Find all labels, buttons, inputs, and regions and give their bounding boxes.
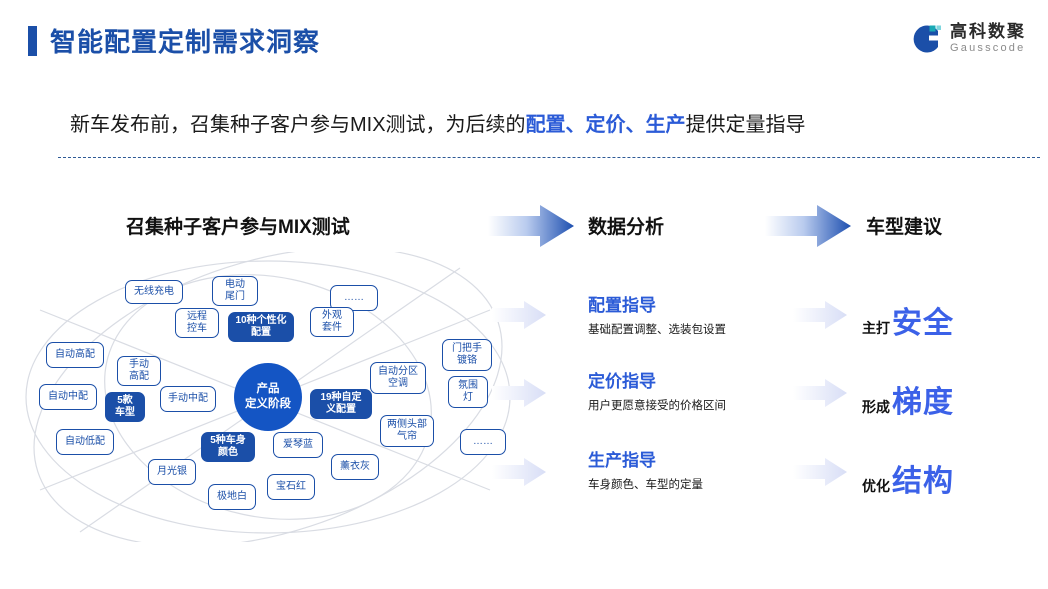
- advice-item-safety: 主打 安全: [862, 298, 954, 342]
- row-arrow-right-2-icon: [793, 378, 847, 408]
- column-header-collect: 召集种子客户参与MIX测试: [126, 212, 350, 239]
- mindmap-node: 宝石红: [267, 474, 315, 500]
- analysis-desc: 车身颜色、车型的定量: [588, 476, 703, 492]
- advice-keyword: 结构: [892, 456, 954, 500]
- mindmap-node: 电动 尾门: [212, 276, 258, 306]
- column-header-analysis: 数据分析: [588, 212, 664, 239]
- mindmap-node: 自动分区 空调: [370, 362, 426, 394]
- row-arrow-left-2-icon: [492, 378, 546, 408]
- mindmap-node: 5款 车型: [105, 392, 145, 422]
- mindmap-node: 19种自定 义配置: [310, 389, 372, 419]
- row-arrow-right-3-icon: [793, 457, 847, 487]
- mindmap-node: 无线充电: [125, 280, 183, 304]
- analysis-row-production: 生产指导 车身颜色、车型的定量: [588, 452, 703, 492]
- mindmap-node: 外观 套件: [310, 307, 354, 337]
- slide: 智能配置定制需求洞察 高科数聚 Gausscode 新车发布前，召集种子客户参与…: [0, 0, 1048, 589]
- analysis-desc: 基础配置调整、选装包设置: [588, 321, 726, 337]
- analysis-desc: 用户更愿意接受的价格区间: [588, 397, 726, 413]
- advice-prefix: 形成: [862, 397, 890, 417]
- title-text: 智能配置定制需求洞察: [50, 22, 320, 59]
- mindmap-node: 门把手 镀铬: [442, 339, 492, 371]
- configuration-mindmap: 无线充电电动 尾门……远程 控车10种个性化 配置外观 套件门把手 镀铬自动高配…: [20, 252, 520, 542]
- subtitle-tail: 提供定量指导: [686, 114, 806, 136]
- mindmap-node: 自动中配: [39, 384, 97, 410]
- mindmap-node: 薰衣灰: [331, 454, 379, 480]
- logo-names: 高科数聚 Gausscode: [950, 23, 1026, 55]
- mindmap-node: 极地白: [208, 484, 256, 510]
- subtitle-highlight: 配置、定价、生产: [526, 114, 686, 136]
- row-arrow-left-1-icon: [492, 300, 546, 330]
- subtitle: 新车发布前，召集种子客户参与MIX测试，为后续的配置、定价、生产提供定量指导: [70, 108, 806, 137]
- advice-prefix: 优化: [862, 476, 890, 496]
- advice-item-tiering: 形成 梯度: [862, 377, 954, 421]
- brand-logo: 高科数聚 Gausscode: [908, 22, 1026, 56]
- mindmap-node: 5种车身 颜色: [201, 432, 255, 462]
- mindmap-node: 自动低配: [56, 429, 114, 455]
- analysis-title: 定价指导: [588, 373, 726, 392]
- analysis-row-pricing: 定价指导 用户更愿意接受的价格区间: [588, 373, 726, 413]
- flow-arrow-1-icon: [488, 203, 574, 249]
- row-arrow-left-3-icon: [492, 457, 546, 487]
- column-header-advice: 车型建议: [866, 212, 942, 239]
- logo-mark-icon: [908, 22, 942, 56]
- mindmap-node: 月光银: [148, 459, 196, 485]
- analysis-title: 配置指导: [588, 297, 726, 316]
- flow-arrow-2-icon: [765, 203, 851, 249]
- mindmap-node: 爱琴蓝: [273, 432, 323, 458]
- diagram-center-node: 产品 定义阶段: [234, 363, 302, 431]
- mindmap-node: 手动 高配: [117, 356, 161, 386]
- mindmap-node: ……: [460, 429, 506, 455]
- mindmap-node: 两侧头部 气帘: [380, 415, 434, 447]
- section-divider: [58, 157, 1040, 158]
- mindmap-node: 自动高配: [46, 342, 104, 368]
- advice-keyword: 安全: [892, 298, 954, 342]
- advice-item-structure: 优化 结构: [862, 456, 954, 500]
- page-title: 智能配置定制需求洞察: [28, 22, 320, 59]
- mindmap-node: 氛围 灯: [448, 376, 488, 408]
- advice-prefix: 主打: [862, 318, 890, 338]
- mindmap-node: 手动中配: [160, 386, 216, 412]
- title-accent-bar: [28, 26, 37, 56]
- row-arrow-right-1-icon: [793, 300, 847, 330]
- logo-name-en: Gausscode: [950, 41, 1026, 55]
- logo-name-cn: 高科数聚: [950, 23, 1026, 41]
- analysis-title: 生产指导: [588, 452, 703, 471]
- mindmap-node: 10种个性化 配置: [228, 312, 294, 342]
- advice-keyword: 梯度: [892, 377, 954, 421]
- analysis-row-config: 配置指导 基础配置调整、选装包设置: [588, 297, 726, 337]
- mindmap-node: 远程 控车: [175, 308, 219, 338]
- subtitle-lead: 新车发布前，召集种子客户参与MIX测试，为后续的: [70, 114, 526, 136]
